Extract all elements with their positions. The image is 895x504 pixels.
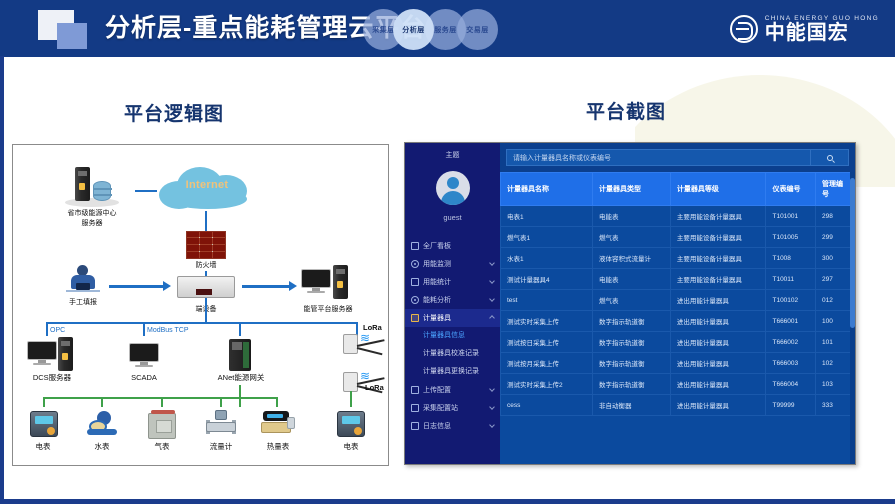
internet-cloud-icon: Internet [159, 165, 255, 211]
label-province-server-line1: 省市级能源中心 [50, 209, 134, 218]
label-platform-server: 能管平台服务器 [283, 305, 373, 314]
app-main: 请输入计量器具名称或仪表编号 计量器具名称 计量器具类型 计量器具等级 仪表编号… [500, 143, 855, 464]
province-database-icon [93, 181, 111, 201]
table-row[interactable]: 燃气表1燃气表主要用能设备计量器具T101005299 [501, 227, 855, 248]
dcs-tower-icon [58, 337, 73, 371]
arrow-head-1 [163, 281, 171, 291]
table-cell-r0-c3: T101001 [766, 206, 816, 227]
table-row[interactable]: cess非自动衡器进出用能计量器具T99999333 [501, 395, 855, 416]
header-square-blue-icon [57, 23, 87, 49]
chevron-down-icon [489, 404, 495, 410]
analysis-icon [411, 296, 419, 304]
sidebar-item-meters[interactable]: 计量器具 [405, 309, 500, 327]
layer-circle-analysis[interactable]: 分析层 [393, 9, 434, 50]
sidebar-username: guest [405, 213, 500, 222]
green-bus-horizontal [43, 397, 241, 399]
table-cell-r6-c2: 进出用能计量器具 [670, 332, 766, 353]
col-mgmt[interactable]: 管理编号 [816, 173, 855, 206]
meter-table: 计量器具名称 计量器具类型 计量器具等级 仪表编号 管理编号 电表1电能表主要用… [500, 172, 855, 416]
col-name[interactable]: 计量器具名称 [501, 173, 593, 206]
table-cell-r1-c2: 主要用能设备计量器具 [670, 227, 766, 248]
link-internet-firewall [205, 211, 207, 231]
platform-logic-diagram: 省市级能源中心 服务器 Internet 防火墙 手工填报 端设备 [12, 144, 389, 466]
slide-header: 分析层-重点能耗管理云平台 采集层 服务层 交易层 分析层 CHINA ENER… [0, 0, 895, 57]
meter-electric-1-icon [30, 411, 58, 437]
table-cell-r5-c0: 测试实时采集上传 [501, 311, 593, 332]
table-cell-r0-c4: 298 [816, 206, 855, 227]
search-button[interactable] [811, 149, 849, 166]
label-dcs: DCS服务器 [16, 373, 88, 382]
meter-gas-icon [148, 413, 176, 439]
col-type[interactable]: 计量器具类型 [593, 173, 671, 206]
green-bus-ext [220, 397, 278, 399]
anet-gateway-icon [229, 339, 251, 371]
table-cell-r4-c3: T100102 [766, 290, 816, 311]
table-cell-r7-c0: 测试按月采集上传 [501, 353, 593, 374]
search-bar: 请输入计量器具名称或仪表编号 [500, 143, 855, 172]
table-cell-r0-c0: 电表1 [501, 206, 593, 227]
meter-flow-icon [206, 410, 236, 438]
sidebar-item-upload-config[interactable]: 上传配置 [405, 381, 500, 399]
table-cell-r8-c3: T666004 [766, 374, 816, 395]
sidebar-label-5: 上传配置 [423, 385, 451, 395]
label-province-server-line2: 服务器 [50, 219, 134, 228]
bottom-edge-bar [0, 499, 895, 504]
province-server-tower-icon [75, 167, 90, 201]
table-row[interactable]: 测试按月采集上传数字指示轨道衡进出用能计量器具T666003102 [501, 353, 855, 374]
dashboard-icon [411, 242, 419, 250]
table-row[interactable]: 水表1液体容积式流量计主要用能设备计量器具T1008300 [501, 248, 855, 269]
platform-server-tower-icon [333, 265, 348, 299]
monitor-icon [411, 260, 419, 268]
link-server-internet [135, 190, 157, 192]
table-cell-r7-c2: 进出用能计量器具 [670, 353, 766, 374]
table-container: 计量器具名称 计量器具类型 计量器具等级 仪表编号 管理编号 电表1电能表主要用… [500, 172, 855, 464]
sidebar-label-1: 用能监测 [423, 259, 451, 269]
company-logo: CHINA ENERGY GUO HONG 中能国宏 [730, 12, 879, 46]
label-modbus: ModBus TCP [147, 326, 189, 335]
scada-monitor-icon [129, 343, 159, 367]
firewall-icon [186, 231, 226, 259]
table-cell-r7-c4: 102 [816, 353, 855, 374]
layer-circle-trade[interactable]: 交易层 [457, 9, 498, 50]
chevron-up-icon [489, 315, 495, 321]
table-body: 电表1电能表主要用能设备计量器具T101001298燃气表1燃气表主要用能设备计… [501, 206, 855, 416]
table-cell-r3-c4: 297 [816, 269, 855, 290]
bus-drop-anet [239, 322, 241, 336]
sidebar-label-3: 能耗分析 [423, 295, 451, 305]
bus-trunk-vertical [205, 298, 207, 322]
table-cell-r4-c2: 进出用能计量器具 [670, 290, 766, 311]
table-cell-r5-c3: T666001 [766, 311, 816, 332]
left-edge-bar [0, 56, 4, 504]
label-internet: Internet [159, 179, 255, 191]
table-cell-r5-c4: 100 [816, 311, 855, 332]
search-icon [827, 155, 833, 161]
label-meter-0: 电表 [13, 442, 73, 451]
label-anet: ANet能源网关 [200, 373, 282, 382]
table-cell-r3-c3: T10011 [766, 269, 816, 290]
layer-circles: 采集层 服务层 交易层 分析层 [363, 9, 503, 49]
manual-entry-person-icon [66, 265, 100, 297]
label-firewall: 防火墙 [166, 261, 246, 270]
table-cell-r4-c4: 012 [816, 290, 855, 311]
table-cell-r9-c4: 333 [816, 395, 855, 416]
app-sidebar: 主题 guest 全厂看板 用能监测 用能统计 [405, 143, 500, 464]
green-drop-2 [101, 397, 103, 407]
label-meter-5: 电表 [321, 442, 381, 451]
label-meter-3: 流量计 [191, 442, 251, 451]
table-cell-r9-c3: T99999 [766, 395, 816, 416]
label-lora-2: LoRa [365, 383, 384, 392]
table-row[interactable]: 测试实时采集上传2数字指示轨道衡进出用能计量器具T666004103 [501, 374, 855, 395]
scrollbar-thumb[interactable] [850, 178, 855, 328]
guohong-logo-icon [730, 15, 758, 43]
sidebar-label-2: 用能统计 [423, 277, 451, 287]
bus-drop-opc [46, 322, 48, 336]
logo-chinese-text: 中能国宏 [765, 23, 879, 44]
sidebar-label-0: 全厂看板 [423, 241, 451, 251]
log-icon [411, 422, 419, 430]
table-cell-r7-c1: 数字指示轨道衡 [593, 353, 671, 374]
arrow-head-2 [289, 281, 297, 291]
table-cell-r6-c1: 数字指示轨道衡 [593, 332, 671, 353]
platform-screenshot: 主题 guest 全厂看板 用能监测 用能统计 [404, 142, 856, 465]
arrow-manual-to-device [109, 285, 164, 288]
edge-device-icon [177, 276, 235, 298]
table-cell-r3-c1: 电能表 [593, 269, 671, 290]
meter-water-icon [87, 411, 117, 437]
table-cell-r1-c4: 299 [816, 227, 855, 248]
search-input[interactable]: 请输入计量器具名称或仪表编号 [506, 149, 811, 166]
upload-config-icon [411, 386, 419, 394]
table-cell-r1-c3: T101005 [766, 227, 816, 248]
slide-root: 分析层-重点能耗管理云平台 采集层 服务层 交易层 分析层 CHINA ENER… [0, 0, 895, 504]
green-drop-1 [43, 397, 45, 407]
label-manual-entry: 手工填报 [43, 298, 123, 307]
table-row[interactable]: 测试实时采集上传数字指示轨道衡进出用能计量器具T666001100 [501, 311, 855, 332]
sidebar-label-6: 采集配置站 [423, 403, 458, 413]
label-lora-1: LoRa [363, 323, 382, 332]
table-cell-r9-c1: 非自动衡器 [593, 395, 671, 416]
sidebar-subitem-meter-info[interactable]: 计量器具信息 [405, 327, 500, 345]
table-cell-r2-c4: 300 [816, 248, 855, 269]
table-cell-r8-c1: 数字指示轨道衡 [593, 374, 671, 395]
table-cell-r2-c2: 主要用能设备计量器具 [670, 248, 766, 269]
green-bus-vertical [239, 385, 241, 407]
label-scada: SCADA [109, 373, 179, 382]
table-scrollbar[interactable] [850, 172, 855, 464]
table-cell-r3-c2: 主要用能设备计量器具 [670, 269, 766, 290]
server-plate-icon [65, 198, 119, 207]
table-cell-r1-c0: 燃气表1 [501, 227, 593, 248]
chevron-down-icon [489, 422, 495, 428]
sidebar-item-monitor[interactable]: 用能监测 [405, 255, 500, 273]
sidebar-label-7: 日志信息 [423, 421, 451, 431]
table-cell-r5-c1: 数字指示轨道衡 [593, 311, 671, 332]
table-cell-r7-c3: T666003 [766, 353, 816, 374]
table-cell-r8-c0: 测试实时采集上传2 [501, 374, 593, 395]
section-title-right: 平台截图 [586, 97, 666, 124]
table-cell-r6-c3: T666002 [766, 332, 816, 353]
meter-electric-2-icon [337, 411, 365, 437]
sidebar-item-stats[interactable]: 用能统计 [405, 273, 500, 291]
table-row[interactable]: test燃气表进出用能计量器具T100102012 [501, 290, 855, 311]
chevron-down-icon [489, 296, 495, 302]
table-cell-r0-c2: 主要用能设备计量器具 [670, 206, 766, 227]
green-drop-3 [161, 397, 163, 407]
table-cell-r8-c2: 进出用能计量器具 [670, 374, 766, 395]
arrow-device-to-platform [242, 285, 290, 288]
table-cell-r3-c0: 测试计量器具4 [501, 269, 593, 290]
sidebar-label-4: 计量器具 [423, 313, 451, 323]
table-cell-r4-c0: test [501, 290, 593, 311]
label-meter-1: 水表 [72, 442, 132, 451]
table-cell-r4-c1: 燃气表 [593, 290, 671, 311]
table-row[interactable]: 电表1电能表主要用能设备计量器具T101001298 [501, 206, 855, 227]
table-cell-r1-c1: 燃气表 [593, 227, 671, 248]
chevron-down-icon [489, 278, 495, 284]
dcs-monitor-icon [27, 341, 57, 365]
label-meter-2: 气表 [132, 442, 192, 451]
table-cell-r9-c0: cess [501, 395, 593, 416]
meter-heat-icon [261, 411, 295, 437]
table-cell-r2-c1: 液体容积式流量计 [593, 248, 671, 269]
logo-english-text: CHINA ENERGY GUO HONG [765, 15, 879, 22]
sidebar-subitem-replacement[interactable]: 计量器具更换记录 [405, 363, 500, 381]
bus-trunk-horizontal [46, 322, 358, 324]
section-title-left: 平台逻辑图 [124, 99, 224, 126]
table-row[interactable]: 测试计量器具4电能表主要用能设备计量器具T10011297 [501, 269, 855, 290]
table-cell-r2-c3: T1008 [766, 248, 816, 269]
meter-folder-icon [411, 314, 419, 322]
col-grade[interactable]: 计量器具等级 [670, 173, 766, 206]
label-opc: OPC [50, 326, 65, 335]
theme-switcher[interactable]: 主题 [405, 143, 500, 167]
table-header-row: 计量器具名称 计量器具类型 计量器具等级 仪表编号 管理编号 [501, 173, 855, 206]
table-cell-r9-c2: 进出用能计量器具 [670, 395, 766, 416]
sidebar-menu: 全厂看板 用能监测 用能统计 能耗分析 [405, 237, 500, 435]
collect-config-icon [411, 404, 419, 412]
table-cell-r5-c2: 进出用能计量器具 [670, 311, 766, 332]
table-cell-r2-c0: 水表1 [501, 248, 593, 269]
avatar[interactable] [436, 171, 470, 205]
sidebar-subitem-calibration[interactable]: 计量器具校准记录 [405, 345, 500, 363]
sidebar-item-logs[interactable]: 日志信息 [405, 417, 500, 435]
bus-drop-modbus [143, 322, 145, 336]
stats-icon [411, 278, 419, 286]
lora-device-1-icon: ≋ LoRa [343, 331, 387, 361]
table-cell-r6-c4: 101 [816, 332, 855, 353]
platform-monitor-icon [301, 269, 331, 293]
sidebar-item-analysis[interactable]: 能耗分析 [405, 291, 500, 309]
table-cell-r0-c1: 电能表 [593, 206, 671, 227]
table-cell-r6-c0: 测试按日采集上传 [501, 332, 593, 353]
table-row[interactable]: 测试按日采集上传数字指示轨道衡进出用能计量器具T666002101 [501, 332, 855, 353]
chevron-down-icon [489, 386, 495, 392]
green-drop-6 [350, 391, 352, 407]
chevron-down-icon [489, 260, 495, 266]
label-meter-4: 热量表 [248, 442, 308, 451]
table-cell-r8-c4: 103 [816, 374, 855, 395]
sidebar-item-collect-config[interactable]: 采集配置站 [405, 399, 500, 417]
col-serial[interactable]: 仪表编号 [766, 173, 816, 206]
sidebar-item-dashboard[interactable]: 全厂看板 [405, 237, 500, 255]
